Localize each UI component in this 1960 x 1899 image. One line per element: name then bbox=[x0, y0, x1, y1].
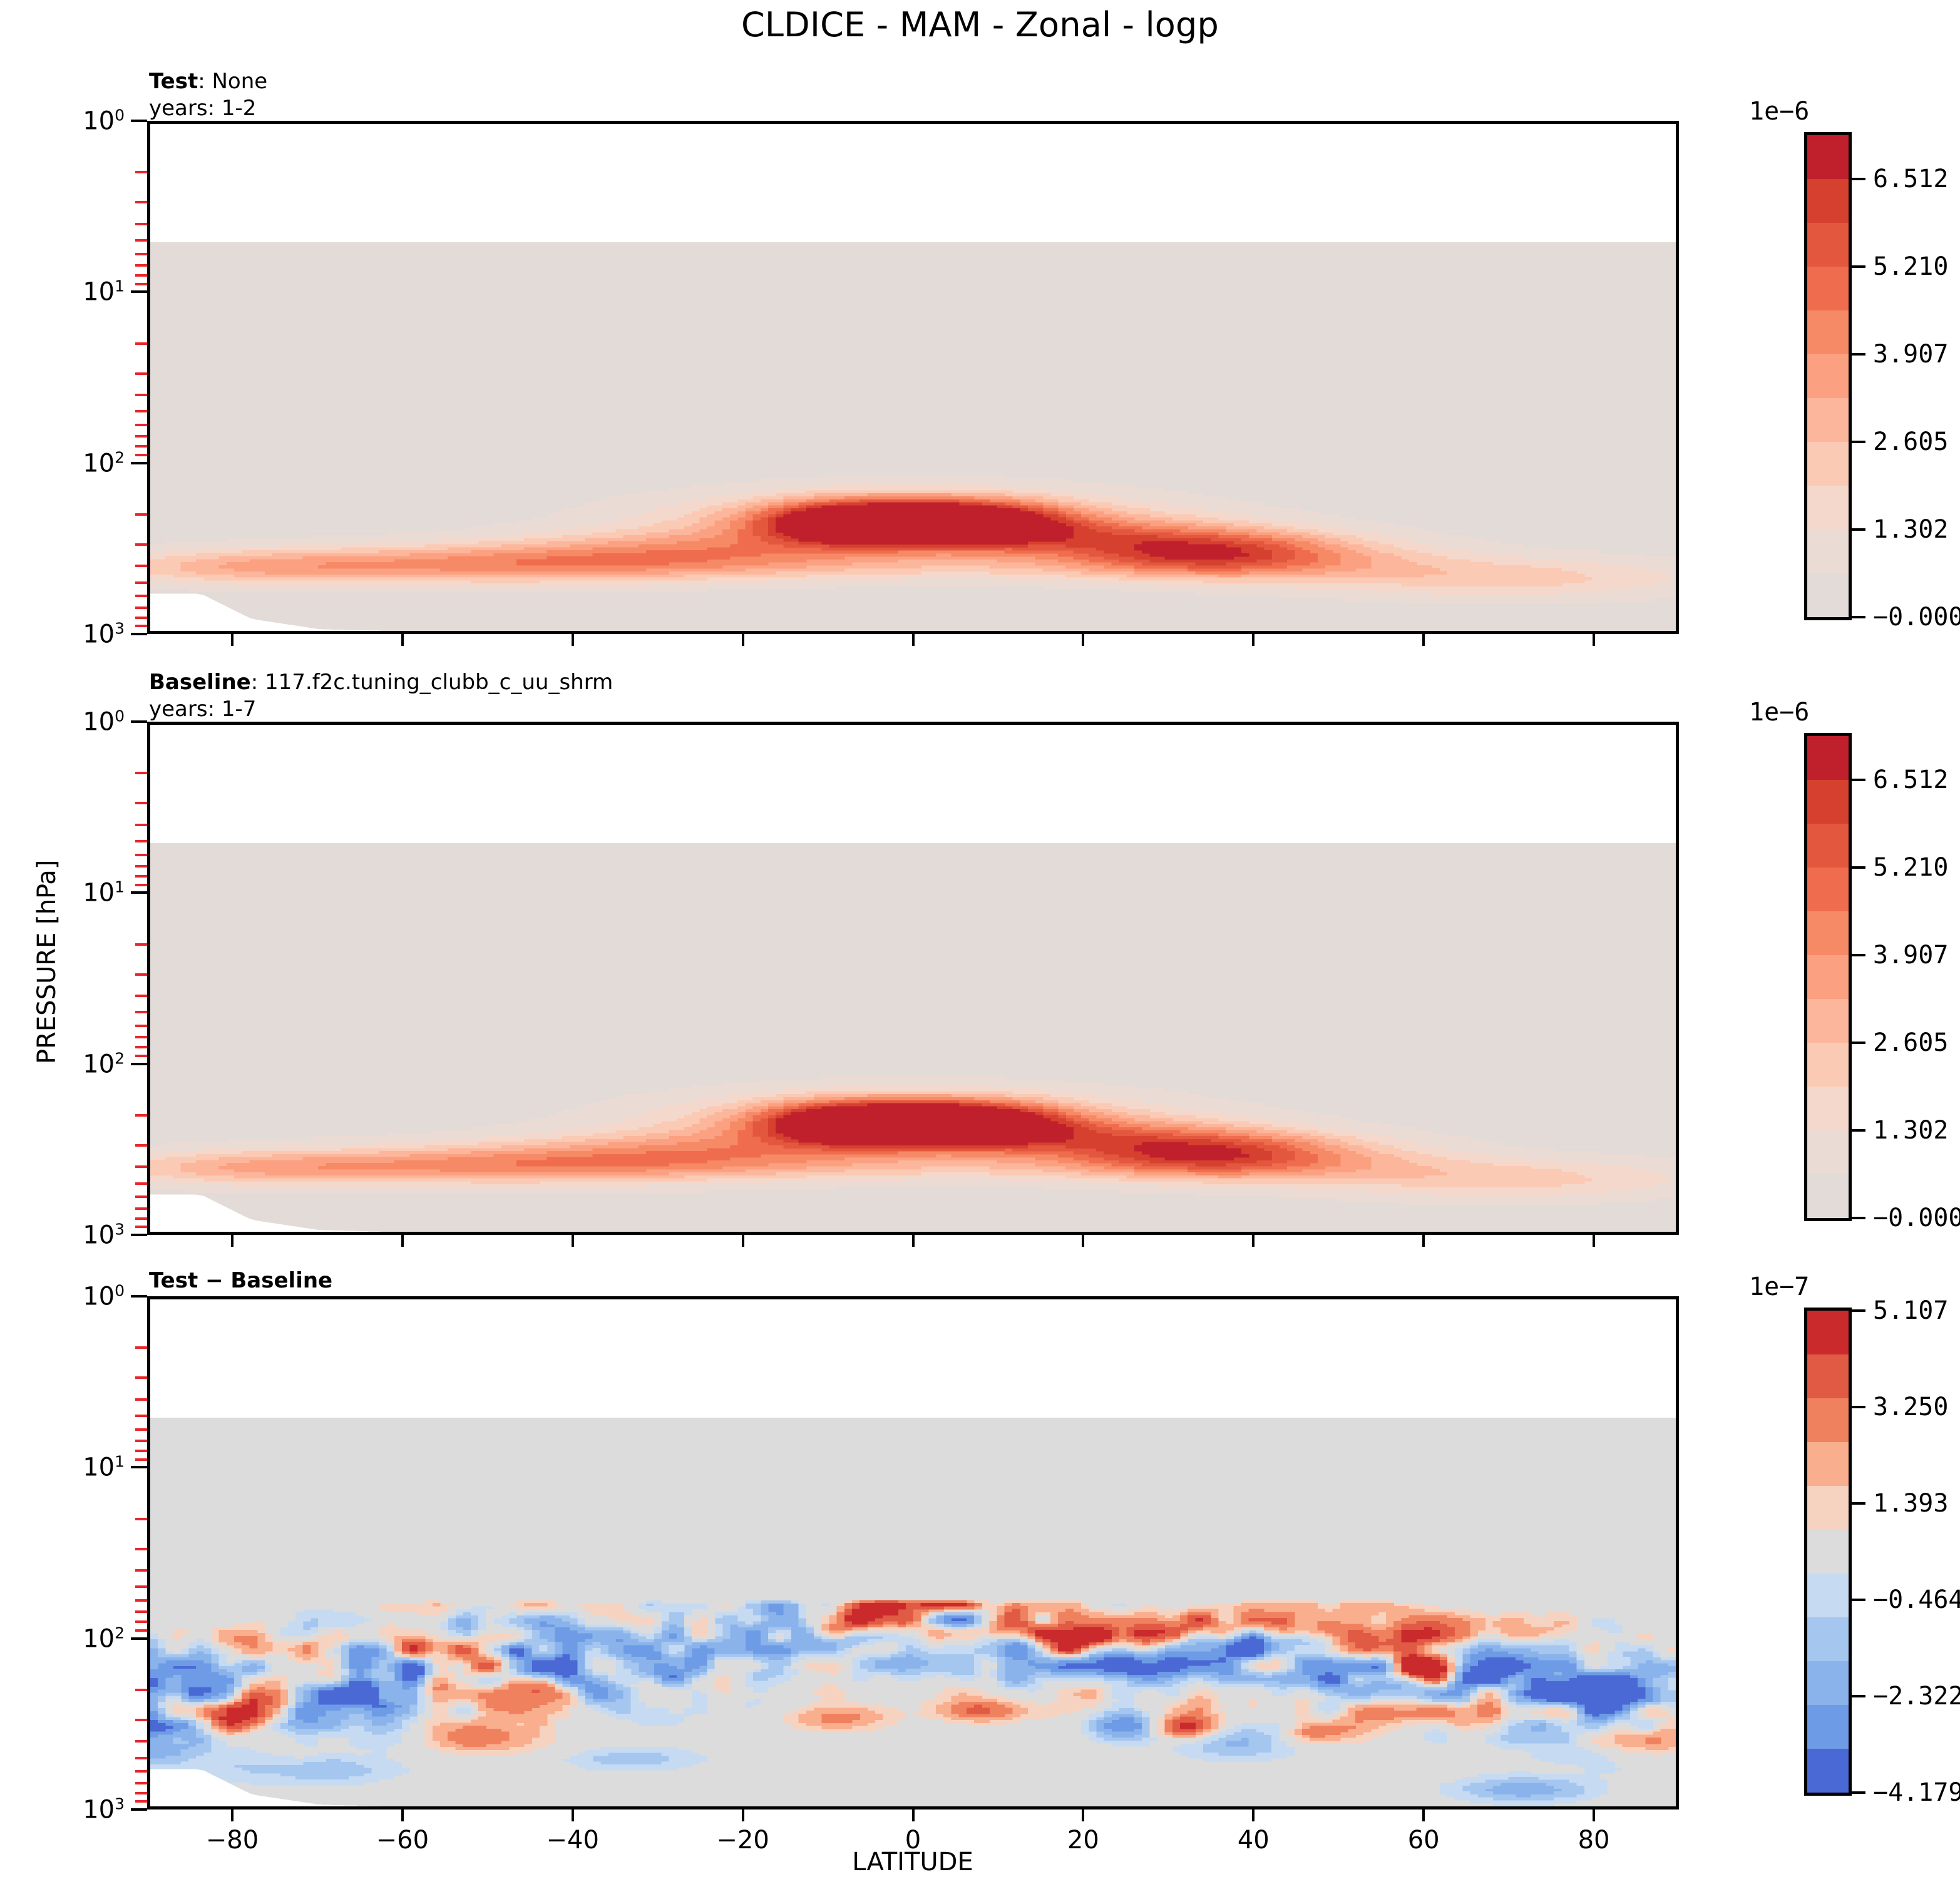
y-tick-minor bbox=[135, 1629, 147, 1632]
y-tick-minor bbox=[135, 1398, 147, 1401]
y-tick-label: 101 bbox=[0, 1453, 125, 1482]
colorbar-segment bbox=[1807, 1617, 1849, 1661]
x-tick-label: 20 bbox=[1067, 1826, 1099, 1855]
colorbar-tick bbox=[1852, 1695, 1865, 1697]
y-tick-minor bbox=[135, 1518, 147, 1520]
colorbar-segment bbox=[1807, 1749, 1849, 1793]
colorbar-segment bbox=[1807, 1530, 1849, 1574]
x-tick-label: 80 bbox=[1578, 1826, 1610, 1855]
colorbar-tick bbox=[1852, 1502, 1865, 1505]
y-tick-minor bbox=[135, 1440, 147, 1442]
x-tick bbox=[1252, 1809, 1255, 1821]
colorbar-segment bbox=[1807, 1574, 1849, 1617]
colorbar-tick-label: −4.179 bbox=[1873, 1778, 1960, 1807]
colorbar-tick bbox=[1852, 1791, 1865, 1794]
colorbar-tick-label: 1.393 bbox=[1873, 1489, 1948, 1518]
plot-area-difference[interactable] bbox=[147, 1296, 1679, 1809]
y-tick-minor bbox=[135, 1548, 147, 1550]
y-tick-major bbox=[131, 1637, 147, 1640]
y-tick-minor bbox=[135, 1719, 147, 1721]
colorbar-tick-label: −0.464 bbox=[1873, 1585, 1960, 1614]
colorbar-segment bbox=[1807, 1398, 1849, 1442]
y-tick-minor bbox=[135, 1450, 147, 1452]
y-tick-label: 103 bbox=[0, 1794, 125, 1824]
y-tick-minor bbox=[135, 1376, 147, 1379]
x-tick-label: 40 bbox=[1238, 1826, 1270, 1855]
colorbar-difference[interactable] bbox=[1804, 1308, 1852, 1796]
y-tick-label: 100 bbox=[0, 1281, 125, 1311]
colorbar-tick-label: −2.322 bbox=[1873, 1682, 1960, 1711]
y-tick-minor bbox=[135, 1458, 147, 1461]
y-tick-minor bbox=[135, 1757, 147, 1759]
colorbar-segment bbox=[1807, 1311, 1849, 1354]
y-tick-minor bbox=[135, 1585, 147, 1588]
y-tick-minor bbox=[135, 1800, 147, 1803]
y-tick-minor bbox=[135, 1740, 147, 1743]
x-tick-label: −60 bbox=[376, 1826, 429, 1855]
x-tick bbox=[572, 1809, 574, 1821]
y-tick-minor bbox=[135, 1620, 147, 1623]
colorbar-tick-label: 3.250 bbox=[1873, 1393, 1948, 1421]
colorbar-tick bbox=[1852, 1309, 1865, 1312]
figure-root: CLDICE - MAM - Zonal - logp PRESSURE [hP… bbox=[0, 0, 1960, 1899]
panel-title-bold: Test − Baseline bbox=[149, 1268, 332, 1293]
y-tick-minor bbox=[135, 1770, 147, 1773]
y-tick-minor bbox=[135, 1792, 147, 1794]
x-tick-label: 60 bbox=[1408, 1826, 1440, 1855]
colorbar-offset-label: 1e−7 bbox=[1749, 1272, 1809, 1301]
x-axis-title: LATITUDE bbox=[852, 1848, 973, 1876]
colorbar-segment bbox=[1807, 1442, 1849, 1486]
y-tick-minor bbox=[135, 1569, 147, 1572]
y-tick-major bbox=[131, 1808, 147, 1811]
y-tick-minor bbox=[135, 1346, 147, 1349]
panel-difference: Test − Baseline100101102103−80−60−40−200… bbox=[0, 0, 1960, 1899]
y-tick-major bbox=[131, 1466, 147, 1468]
y-tick-minor bbox=[135, 1428, 147, 1431]
x-tick bbox=[1593, 1809, 1595, 1821]
x-tick-label: −40 bbox=[546, 1826, 599, 1855]
colorbar-segment bbox=[1807, 1354, 1849, 1398]
y-tick-minor bbox=[135, 1782, 147, 1784]
x-tick bbox=[231, 1809, 233, 1821]
y-tick-minor bbox=[135, 1610, 147, 1613]
x-tick bbox=[1422, 1809, 1425, 1821]
colorbar-segment bbox=[1807, 1661, 1849, 1705]
y-tick-major bbox=[131, 1295, 147, 1298]
colorbar-tick-label: 5.107 bbox=[1873, 1296, 1948, 1325]
x-tick-label: −80 bbox=[206, 1826, 259, 1855]
y-tick-label: 102 bbox=[0, 1624, 125, 1653]
y-tick-minor bbox=[135, 1599, 147, 1602]
y-tick-minor bbox=[135, 1689, 147, 1691]
x-tick bbox=[912, 1809, 915, 1821]
panel-header-difference: Test − Baseline bbox=[149, 1267, 332, 1294]
y-tick-minor bbox=[135, 1415, 147, 1417]
x-tick bbox=[1082, 1809, 1084, 1821]
x-tick-label: −20 bbox=[716, 1826, 769, 1855]
colorbar-tick bbox=[1852, 1406, 1865, 1408]
colorbar-tick bbox=[1852, 1599, 1865, 1601]
colorbar-segment bbox=[1807, 1705, 1849, 1749]
x-tick bbox=[401, 1809, 404, 1821]
x-tick bbox=[742, 1809, 744, 1821]
colorbar-segment bbox=[1807, 1486, 1849, 1530]
